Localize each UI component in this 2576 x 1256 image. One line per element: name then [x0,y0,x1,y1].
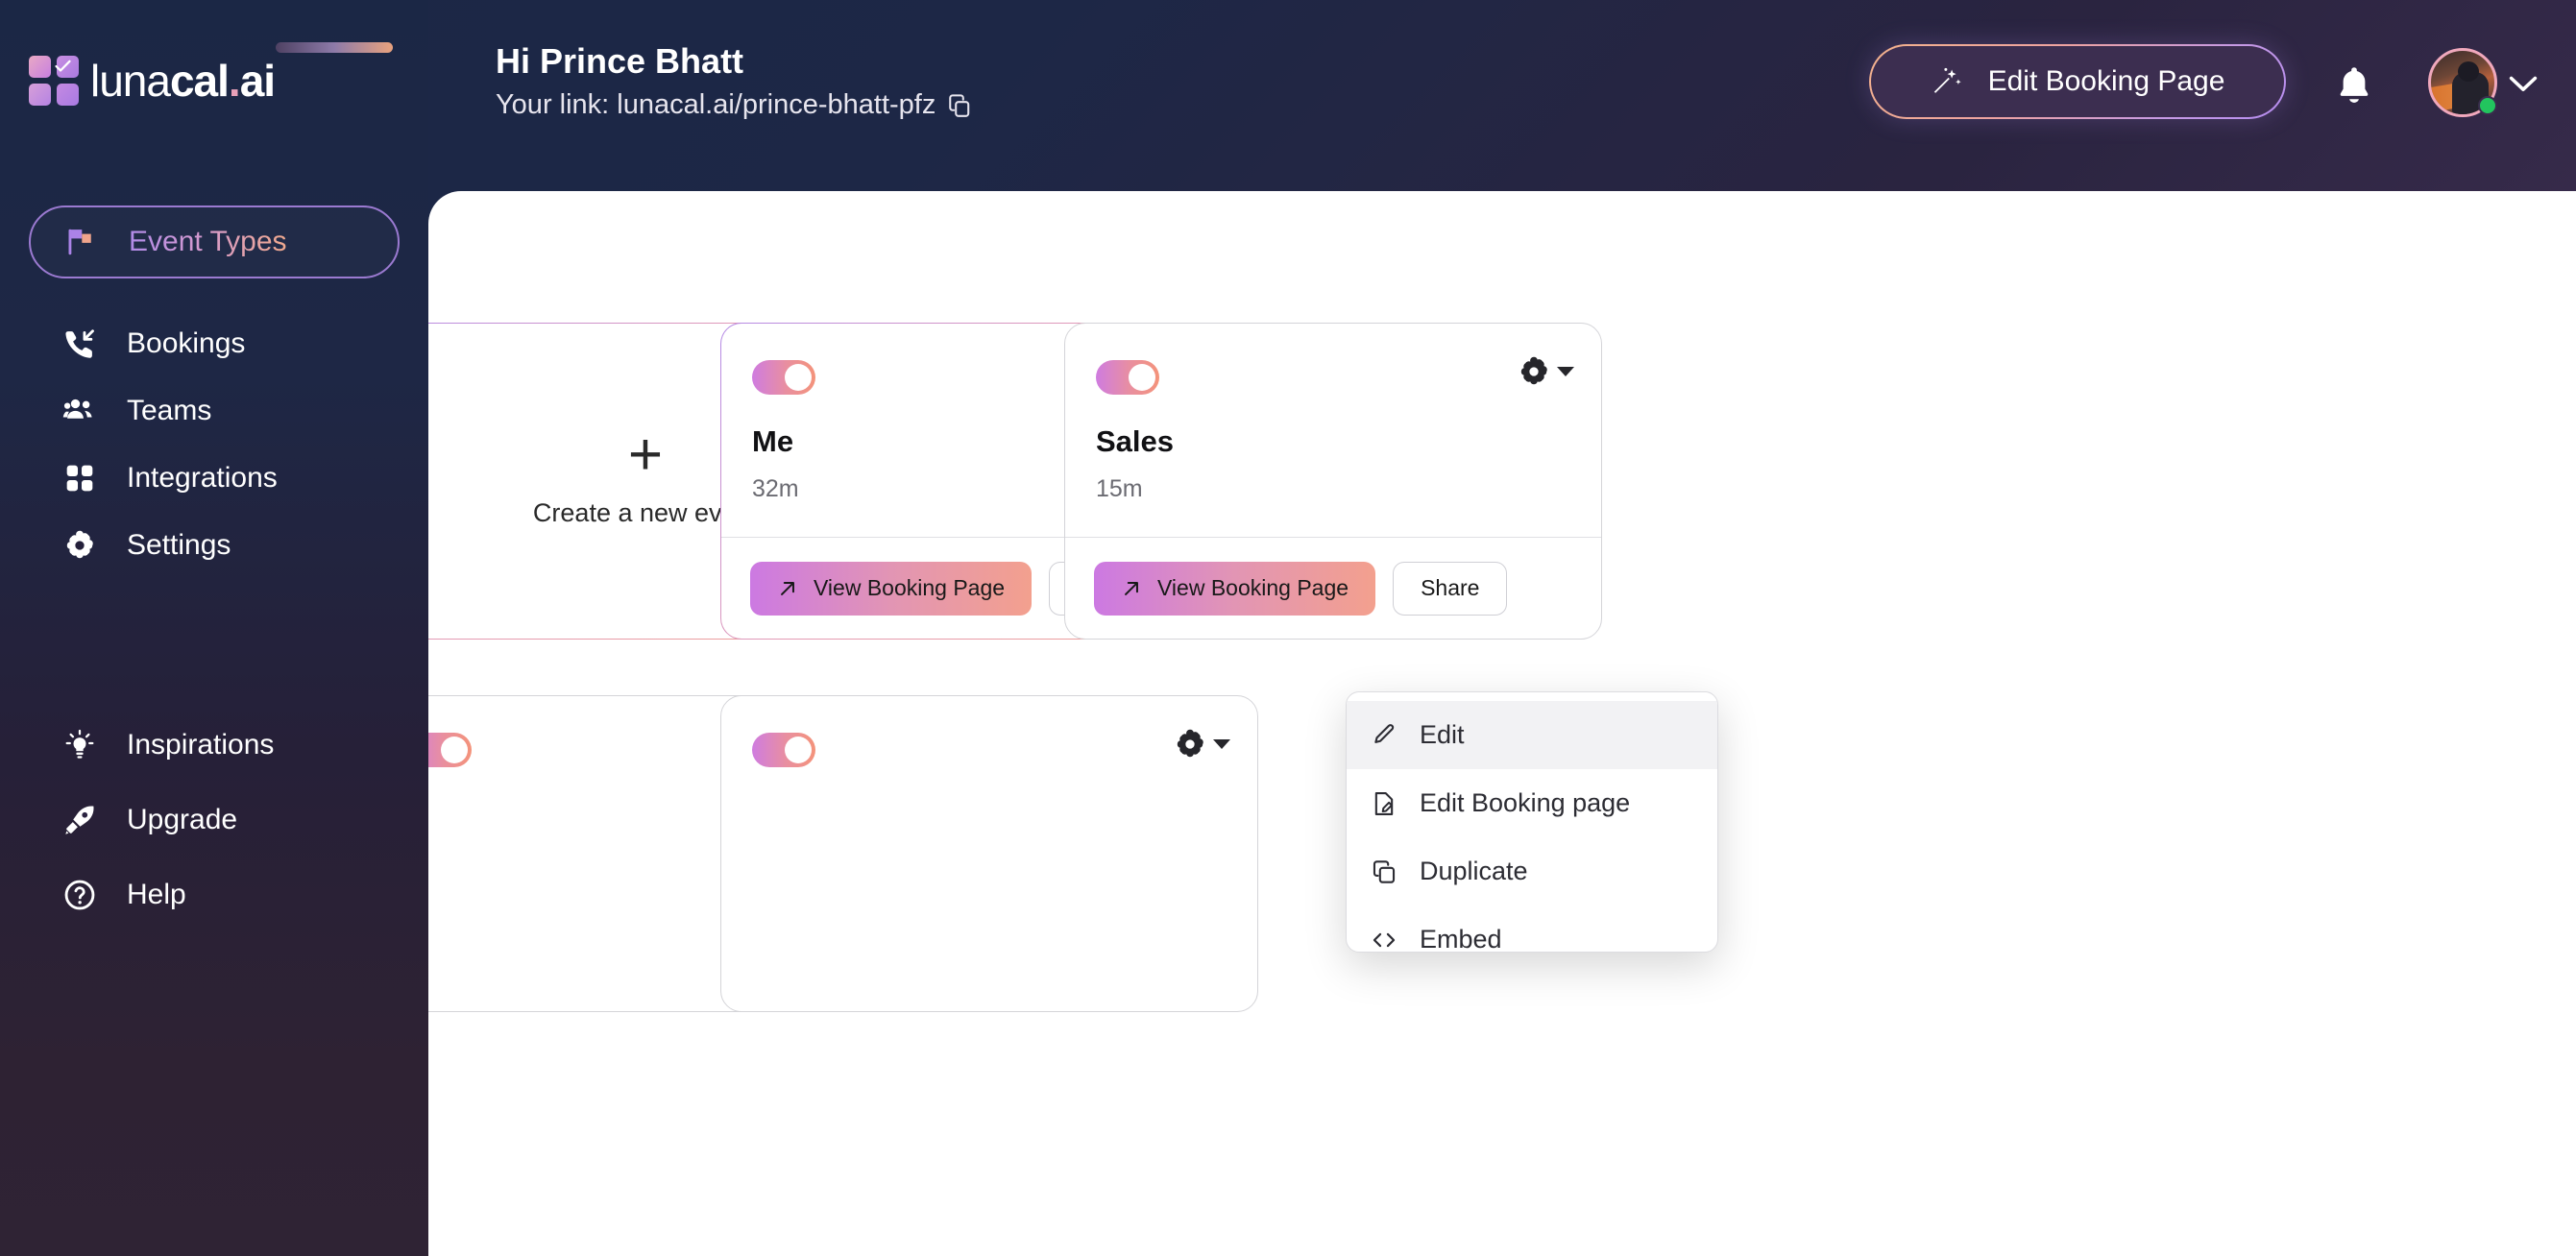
event-card-duration: 32m [752,475,799,503]
flag-icon [63,224,100,260]
sidebar-item-inspirations[interactable]: Inspirations [29,709,400,782]
menu-item-label: Duplicate [1420,857,1528,886]
sidebar-item-integrations[interactable]: Integrations [29,442,400,515]
menu-item-label: Edit [1420,720,1465,750]
online-status-badge [2478,96,2497,115]
event-card-footer: View Booking Page Share [1065,537,1601,639]
logo-wordmark: lunacal.ai [90,59,275,103]
gear-icon [61,527,98,564]
file-edit-icon [1370,789,1398,818]
chevron-down-icon [1557,367,1574,376]
toggle-knob [1129,364,1155,391]
copy-icon [1370,857,1398,886]
gear-icon [1517,354,1551,389]
sidebar-nav: Event Types Bookings [0,191,428,1256]
logo-luna: luna [90,56,170,106]
view-booking-page-label: View Booking Page [1157,575,1349,601]
arrow-up-right-icon [777,578,798,599]
toggle-knob [785,737,812,763]
event-enabled-toggle[interactable] [752,733,815,767]
pencil-icon [1370,721,1398,750]
menu-item-edit[interactable]: Edit [1347,701,1717,769]
sidebar-item-label: Upgrade [127,804,237,836]
event-enabled-toggle[interactable] [752,360,815,395]
logo-check-icon [55,60,71,73]
menu-item-label: Embed [1420,925,1502,953]
avatar-photo-head [2458,61,2479,82]
logo-dot: . [229,56,240,106]
greeting-block: Hi Prince Bhatt Your link: lunacal.ai/pr… [496,40,972,121]
sidebar-item-bookings[interactable]: Bookings [29,307,400,380]
event-card-sales[interactable]: Sales 15m View Booking Page Share [1064,323,1602,640]
sidebar-item-label: Inspirations [127,729,274,761]
user-link-text: Your link: lunacal.ai/prince-bhatt-pfz [496,89,936,121]
logo-grid-icon [29,56,79,106]
sidebar-item-label: Event Types [129,226,287,258]
logo-cal: cal [170,56,229,106]
share-label: Share [1421,575,1479,601]
chevron-down-icon[interactable] [2507,73,2540,94]
user-menu-button[interactable] [2428,48,2497,117]
sidebar-item-teams[interactable]: Teams [29,374,400,447]
bell-icon [2333,62,2375,110]
sidebar-item-label: Bookings [127,327,245,360]
magic-wand-icon [1931,65,1963,98]
code-brackets-icon [1370,926,1398,954]
menu-item-embed[interactable]: Embed [1347,906,1717,953]
sidebar-item-help[interactable]: Help [29,858,400,931]
event-enabled-toggle[interactable] [428,733,472,767]
event-card-duration: 15m [1096,475,1143,503]
app-root: lunacal.ai Hi Prince Bhatt Your link: lu… [0,0,2576,1256]
event-card-row2-2[interactable] [720,695,1258,1012]
sidebar-item-settings[interactable]: Settings [29,509,400,582]
logo-ai: ai [240,56,275,106]
brand-logo[interactable]: lunacal.ai [29,56,275,106]
event-settings-menu-button[interactable] [1517,354,1574,389]
edit-booking-page-label: Edit Booking Page [1988,65,2225,98]
phone-incoming-icon [61,326,98,362]
event-card-title: Me [752,424,793,459]
chevron-down-icon [1213,739,1230,749]
sidebar-item-label: Settings [127,529,231,562]
arrow-up-right-icon [1121,578,1142,599]
logo-accent-bar [276,42,393,53]
share-button[interactable]: Share [1393,562,1507,616]
event-enabled-toggle[interactable] [1096,360,1159,395]
menu-item-duplicate[interactable]: Duplicate [1347,837,1717,906]
sidebar-item-label: Teams [127,395,211,427]
menu-item-label: Edit Booking page [1420,788,1630,818]
plus-icon: + [628,434,663,475]
lightbulb-icon [61,727,98,763]
sidebar-item-label: Help [127,879,186,911]
rocket-icon [61,802,98,838]
sidebar-item-event-types[interactable]: Event Types [29,205,400,278]
event-context-menu: Edit Edit Booking page Duplicate [1346,691,1718,953]
notifications-button[interactable] [2328,58,2380,115]
grid-icon [61,460,98,496]
toggle-knob [441,737,468,763]
view-booking-page-label: View Booking Page [814,575,1005,601]
edit-booking-page-button[interactable]: Edit Booking Page [1869,44,2286,119]
users-icon [61,393,98,429]
copy-icon[interactable] [947,92,972,119]
view-booking-page-button[interactable]: View Booking Page [750,562,1032,616]
question-circle-icon [61,877,98,913]
user-link-row[interactable]: Your link: lunacal.ai/prince-bhatt-pfz [496,89,972,121]
event-card-body: Sales 15m [1065,324,1601,539]
sidebar-item-upgrade[interactable]: Upgrade [29,784,400,857]
greeting-title: Hi Prince Bhatt [496,40,972,82]
view-booking-page-button[interactable]: View Booking Page [1094,562,1375,616]
toggle-knob [785,364,812,391]
menu-item-edit-booking-page[interactable]: Edit Booking page [1347,769,1717,837]
event-card-body [721,696,1257,911]
event-settings-menu-button[interactable] [1173,727,1230,761]
gear-icon [1173,727,1207,761]
sidebar-item-label: Integrations [127,462,278,495]
event-card-title: Sales [1096,424,1174,459]
top-header: lunacal.ai Hi Prince Bhatt Your link: lu… [0,0,2576,191]
